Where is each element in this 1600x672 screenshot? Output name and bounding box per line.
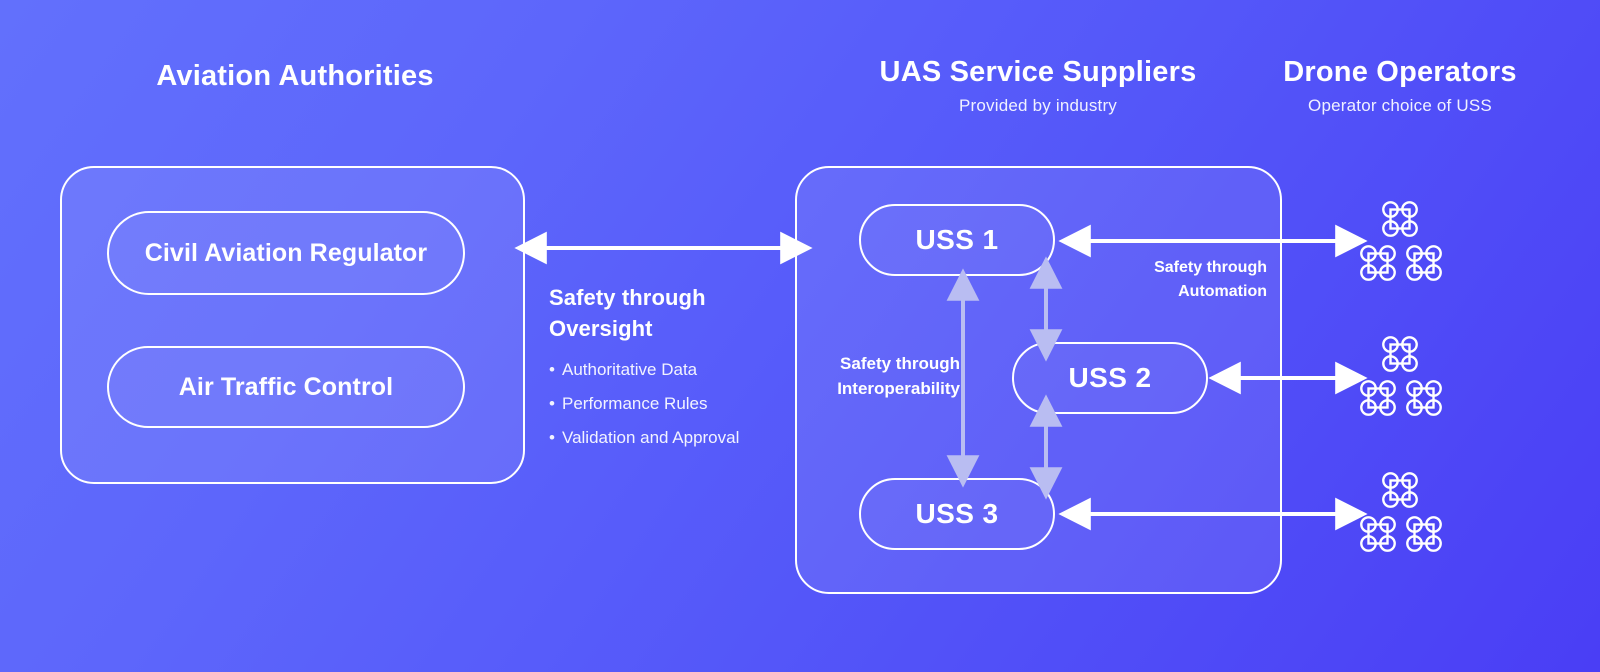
- column-title-operators: Drone Operators: [1276, 56, 1524, 89]
- node-uss-2[interactable]: USS 2: [1012, 342, 1208, 414]
- list-item: Authoritative Data: [549, 359, 799, 380]
- drone-operator-group-1: [1352, 199, 1448, 295]
- quadcopter-icon: [1404, 378, 1444, 418]
- node-label: USS 3: [916, 498, 999, 530]
- node-air-traffic-control[interactable]: Air Traffic Control: [107, 346, 465, 428]
- list-item: Validation and Approval: [549, 427, 799, 448]
- drone-operator-group-3: [1352, 470, 1448, 566]
- quadcopter-icon: [1358, 243, 1398, 283]
- column-title-authorities: Aviation Authorities: [60, 60, 530, 93]
- node-civil-aviation-regulator[interactable]: Civil Aviation Regulator: [107, 211, 465, 295]
- quadcopter-icon: [1380, 334, 1420, 374]
- node-label: Civil Aviation Regulator: [145, 239, 428, 268]
- list-item: Performance Rules: [549, 393, 799, 414]
- node-label: USS 1: [916, 224, 999, 256]
- oversight-title-line1: Safety through: [549, 285, 706, 310]
- quadcopter-icon: [1404, 514, 1444, 554]
- automation-label: Safety through Automation: [1105, 256, 1267, 304]
- interoperability-label: Safety through Interoperability: [798, 352, 960, 401]
- node-label: USS 2: [1069, 362, 1152, 394]
- interoperability-line2: Interoperability: [837, 379, 960, 398]
- column-heading-authorities: Aviation Authorities: [60, 60, 530, 93]
- quadcopter-icon: [1380, 470, 1420, 510]
- quadcopter-icon: [1358, 514, 1398, 554]
- oversight-title: Safety through Oversight: [549, 283, 799, 345]
- column-heading-operators: Drone Operators Operator choice of USS: [1276, 56, 1524, 116]
- quadcopter-icon: [1404, 243, 1444, 283]
- quadcopter-icon: [1358, 378, 1398, 418]
- oversight-title-line2: Oversight: [549, 316, 653, 341]
- interoperability-line1: Safety through: [840, 354, 960, 373]
- quadcopter-icon: [1380, 199, 1420, 239]
- oversight-block: Safety through Oversight Authoritative D…: [549, 283, 799, 461]
- column-title-uss: UAS Service Suppliers: [820, 56, 1256, 89]
- drone-operator-group-2: [1352, 334, 1448, 430]
- node-uss-1[interactable]: USS 1: [859, 204, 1055, 276]
- column-subtitle-uss: Provided by industry: [820, 96, 1256, 116]
- diagram-canvas: Aviation Authorities UAS Service Supplie…: [0, 0, 1600, 672]
- column-heading-uss: UAS Service Suppliers Provided by indust…: [820, 56, 1256, 116]
- oversight-bullet-list: Authoritative Data Performance Rules Val…: [549, 359, 799, 449]
- automation-line1: Safety through: [1154, 259, 1267, 276]
- automation-line2: Automation: [1178, 283, 1267, 300]
- node-uss-3[interactable]: USS 3: [859, 478, 1055, 550]
- column-subtitle-operators: Operator choice of USS: [1276, 96, 1524, 116]
- node-label: Air Traffic Control: [179, 373, 393, 402]
